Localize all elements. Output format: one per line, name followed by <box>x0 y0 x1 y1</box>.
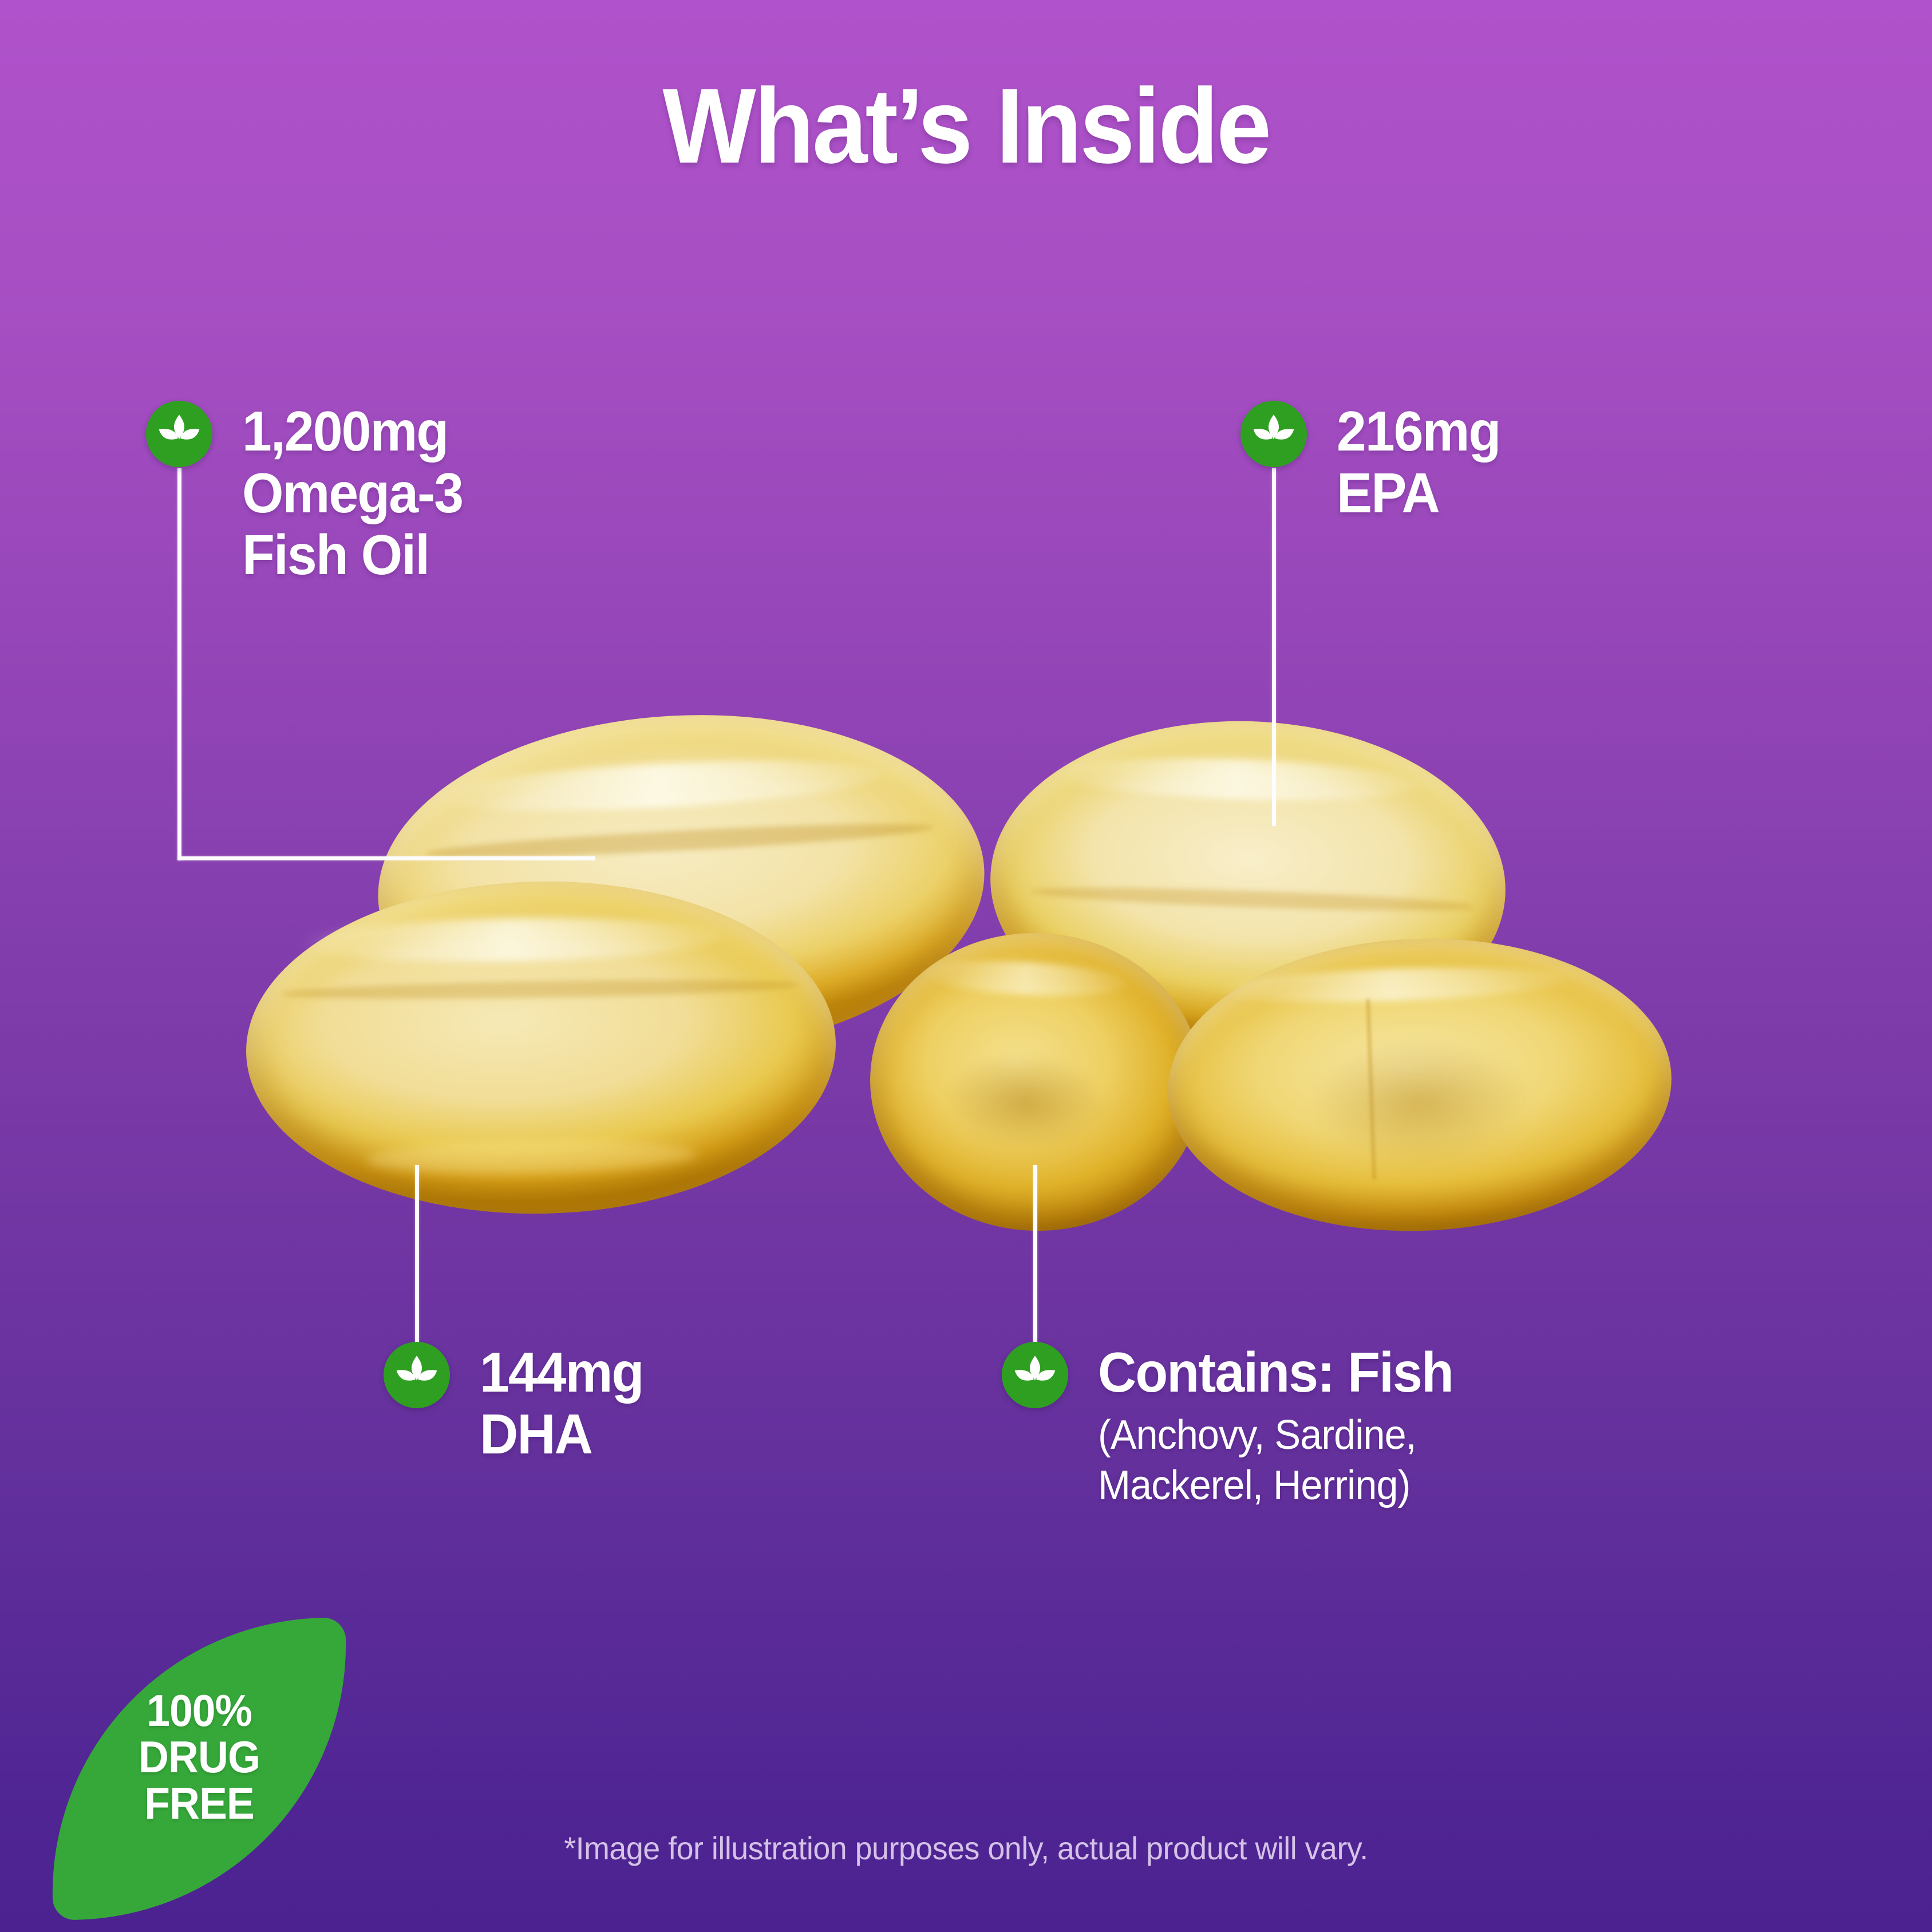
leader-line-omega3-horizontal <box>177 856 595 860</box>
callout-contains-fish-amount: Contains: Fish <box>1098 1342 1453 1404</box>
softgel-capsule-pile <box>0 716 1932 1259</box>
callout-dha-label: DHA <box>480 1404 643 1465</box>
sprout-leaf-icon <box>384 1342 450 1408</box>
callout-omega3[interactable]: 1,200mg Omega-3 Fish Oil <box>146 401 474 586</box>
sprout-leaf-icon <box>146 401 212 467</box>
drug-free-badge[interactable]: 100% DRUG FREE <box>50 1620 348 1918</box>
callout-dha-amount: 144mg <box>480 1342 643 1404</box>
disclaimer-footnote: *Image for illustration purposes only, a… <box>39 1830 1894 1867</box>
callout-omega3-amount: 1,200mg <box>242 401 463 463</box>
callout-dha[interactable]: 144mg DHA <box>384 1342 652 1465</box>
sprout-leaf-icon <box>1240 401 1307 467</box>
whats-inside-infographic: What’s Inside <box>0 0 1932 1932</box>
sprout-leaf-icon <box>1002 1342 1068 1408</box>
callout-epa-label: EPA <box>1337 463 1500 524</box>
drug-free-badge-label: 100% DRUG FREE <box>60 1688 339 1827</box>
page-title: What’s Inside <box>68 73 1864 180</box>
callout-contains-fish-detail: (Anchovy, Sardine, Mackerel, Herring) <box>1098 1411 1453 1511</box>
callout-omega3-label: Omega-3 Fish Oil <box>242 463 463 586</box>
leader-line-dha <box>415 1165 419 1342</box>
callout-epa-amount: 216mg <box>1337 401 1500 463</box>
callout-contains-fish[interactable]: Contains: Fish (Anchovy, Sardine, Macker… <box>1002 1342 1472 1511</box>
callout-epa[interactable]: 216mg EPA <box>1240 401 1509 524</box>
leader-line-contains-fish <box>1033 1165 1037 1342</box>
